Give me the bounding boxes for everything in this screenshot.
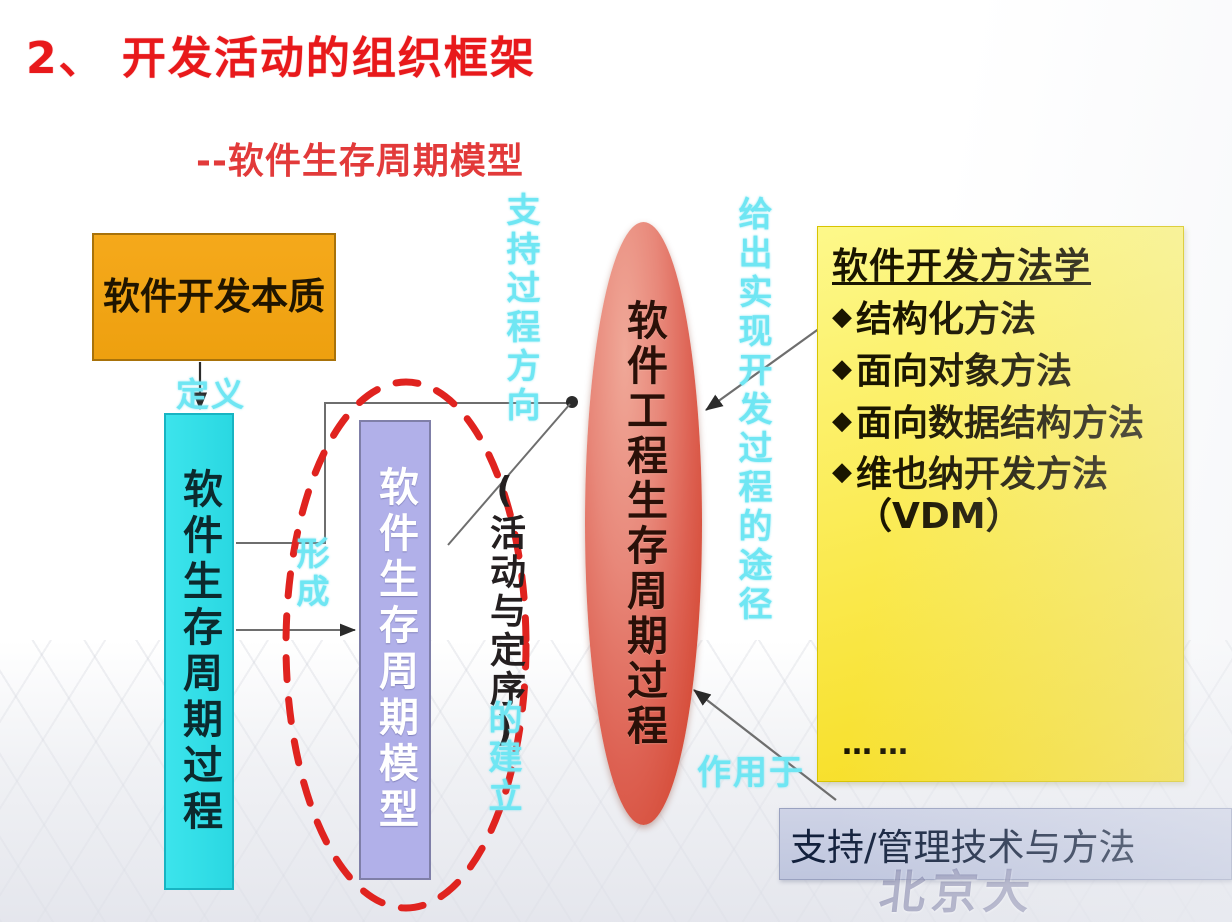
- methodology-item-label: 结构化方法: [856, 299, 1036, 341]
- box-software-lifecycle-model[interactable]: 软件生存周期模型: [359, 420, 431, 880]
- slide-watermark: 北京大: [877, 856, 1040, 922]
- methodology-item-label: 面向对象方法: [856, 351, 1072, 393]
- annotation-support-direction: 支持过程方向: [496, 192, 545, 426]
- ellipse-label: 软件工程生存周期过程: [614, 299, 674, 749]
- methodology-list-item[interactable]: ◆ 面向数据结构方法: [832, 403, 1173, 445]
- annotation-give-path: 给出实现开发过程的途径: [728, 196, 777, 625]
- page-subtitle: --软件生存周期模型: [196, 132, 524, 184]
- methodology-ellipsis: ……: [842, 727, 914, 762]
- methodology-list-item[interactable]: ◆ 面向对象方法: [832, 351, 1173, 393]
- box-lifecycle-model-label: 软件生存周期模型: [366, 466, 424, 834]
- annotation-establishment: 的建立: [478, 700, 527, 817]
- annotation-define: 定义: [176, 368, 246, 416]
- methodology-item-label: 维也纳开发方法（VDM）: [856, 454, 1173, 538]
- box-essence-label: 软件开发本质: [103, 276, 325, 317]
- annotation-form: 形成: [286, 536, 334, 612]
- ellipse-software-engineering-lifecycle-process[interactable]: 软件工程生存周期过程: [585, 222, 702, 825]
- methodology-title: 软件开发方法学: [832, 237, 1173, 289]
- methodology-list-item[interactable]: ◆ 结构化方法: [832, 299, 1173, 341]
- diamond-bullet-icon: ◆: [832, 403, 852, 441]
- box-software-development-essence[interactable]: 软件开发本质: [92, 233, 336, 361]
- diamond-bullet-icon: ◆: [832, 299, 852, 337]
- diamond-bullet-icon: ◆: [832, 351, 852, 389]
- methodology-list-item[interactable]: ◆ 维也纳开发方法（VDM）: [832, 454, 1173, 538]
- annotation-act-on: 作用于: [697, 745, 805, 794]
- box-software-lifecycle-process[interactable]: 软件生存周期过程: [164, 413, 234, 890]
- methodology-item-label: 面向数据结构方法: [856, 403, 1144, 445]
- diamond-bullet-icon: ◆: [832, 454, 852, 492]
- page-title: 2、 开发活动的组织框架: [26, 22, 536, 86]
- box-lifecycle-process-label: 软件生存周期过程: [170, 468, 228, 836]
- box-software-development-methodology[interactable]: 软件开发方法学 ◆ 结构化方法 ◆ 面向对象方法 ◆ 面向数据结构方法 ◆ 维也…: [817, 226, 1184, 782]
